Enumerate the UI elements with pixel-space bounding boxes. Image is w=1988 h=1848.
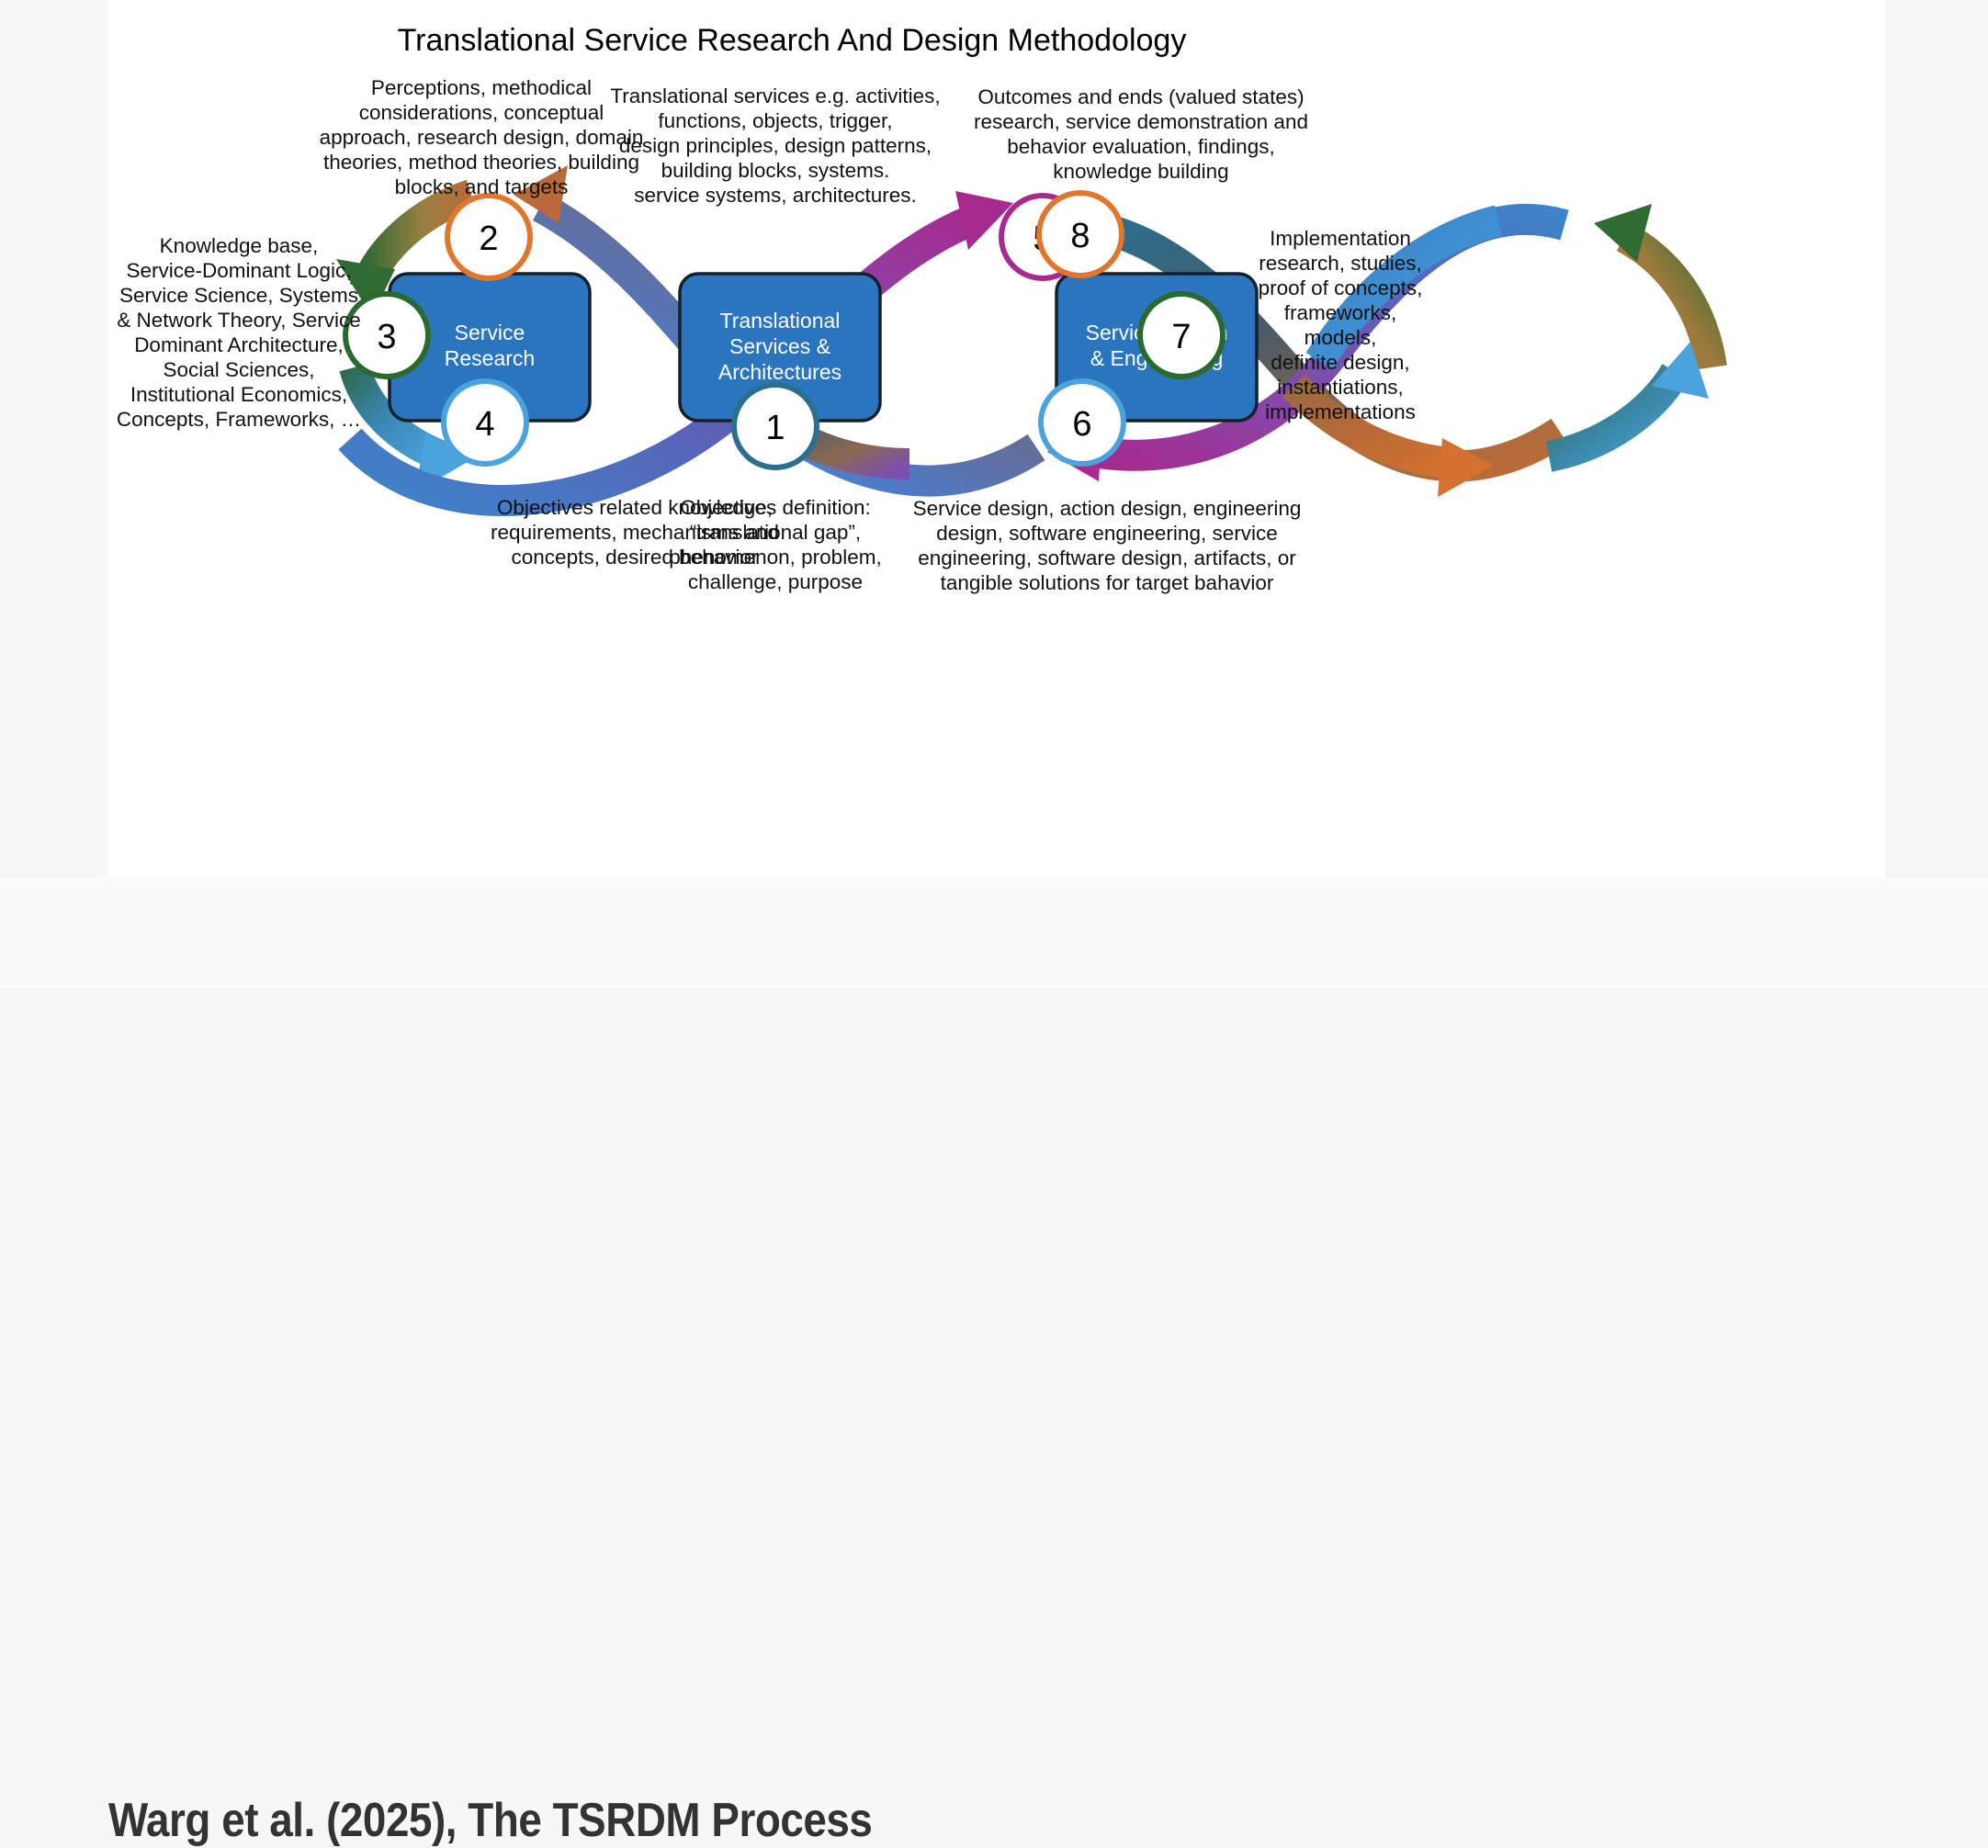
annotation-knowledge-base: Knowledge base, Service-Dominant Logic, … — [117, 234, 361, 431]
module-label-line: Architectures — [718, 360, 842, 384]
annotation-line: considerations, conceptual — [359, 101, 604, 124]
node-6[interactable]: 6 — [1041, 381, 1124, 464]
node-number-4: 4 — [475, 405, 494, 444]
diagram-title: Translational Service Research And Desig… — [398, 23, 1187, 58]
annotation-line: approach, research design, domain — [320, 126, 644, 149]
annotation-perceptions-methodical: Perceptions, methodical considerations, … — [320, 76, 644, 198]
annotation-line: frameworks, — [1284, 301, 1397, 324]
annotation-line: Service-Dominant Logic, — [126, 259, 351, 282]
tsrdm-process-diagram: Translational Service Research And Desig… — [108, 0, 1885, 878]
annotation-line: Knowledge base, — [160, 234, 319, 257]
annotation-line: Objectives definition: — [680, 496, 871, 519]
annotation-line: service systems, architectures. — [634, 184, 917, 207]
annotation-line: research, studies, — [1259, 252, 1422, 275]
annotation-line: challenge, purpose — [688, 570, 863, 593]
node-2[interactable]: 2 — [447, 196, 530, 278]
annotation-line: research, service demonstration and — [974, 110, 1308, 133]
annotation-line: knowledge building — [1053, 160, 1228, 183]
annotation-line: design principles, design patterns, — [619, 134, 932, 157]
annotation-line: models, — [1305, 326, 1377, 349]
node-number-6: 6 — [1072, 405, 1091, 444]
node-number-3: 3 — [377, 318, 396, 356]
annotation-line: Service Science, Systems — [119, 284, 358, 307]
annotation-line: Social Sciences, — [163, 358, 314, 381]
annotation-line: Institutional Economics, — [130, 383, 347, 406]
annotation-translational-services: Translational services e.g. activities, … — [610, 85, 940, 207]
figure-panel: Translational Service Research And Desig… — [108, 0, 1885, 878]
annotation-line: definite design, — [1271, 351, 1409, 374]
annotation-line: Perceptions, methodical — [371, 76, 592, 99]
figure-caption: Warg et al. (2025), The TSRDM Process — [108, 1793, 1483, 1848]
annotation-line: Translational services e.g. activities, — [610, 85, 940, 107]
annotation-objectives-definition: Objectives definition: “translational ga… — [669, 496, 881, 593]
node-number-7: 7 — [1171, 318, 1191, 356]
annotation-line: tangible solutions for target bahavior — [941, 571, 1274, 594]
node-4[interactable]: 4 — [444, 381, 526, 464]
annotation-line: “translational gap”, — [690, 521, 861, 544]
annotation-line: phenomenon, problem, — [669, 546, 881, 569]
annotation-line: Service design, action design, engineeri… — [913, 497, 1302, 520]
annotation-line: building blocks, systems. — [661, 159, 890, 182]
annotation-line: Outcomes and ends (valued states) — [977, 85, 1304, 108]
node-8[interactable]: 8 — [1039, 193, 1122, 276]
arrow-7-to-8 — [1594, 204, 1711, 367]
module-label-line: Service — [455, 321, 525, 344]
annotation-line: blocks, and targets — [395, 175, 569, 198]
annotation-line: theories, method theories, building — [323, 151, 639, 174]
arrow-6-to-7 — [1549, 342, 1709, 456]
annotation-line: behavior evaluation, findings, — [1007, 135, 1274, 158]
annotation-line: proof of concepts, — [1259, 276, 1423, 299]
caption-band: Warg et al. (2025), The TSRDM Process — [0, 878, 1988, 988]
node-number-8: 8 — [1070, 217, 1090, 255]
module-label-line: Translational — [720, 309, 841, 332]
annotation-line: & Network Theory, Service — [117, 309, 361, 332]
annotation-service-design-actions: Service design, action design, engineeri… — [913, 497, 1302, 594]
slide-root: Translational Service Research And Desig… — [0, 0, 1988, 988]
annotation-line: implementations — [1265, 400, 1416, 423]
annotation-line: engineering, software design, artifacts,… — [918, 547, 1296, 569]
annotation-line: Dominant Architecture, — [134, 333, 344, 356]
annotation-line: design, software engineering, service — [936, 522, 1277, 545]
annotation-line: functions, objects, trigger, — [658, 109, 892, 132]
annotation-line: instantiations, — [1277, 376, 1404, 399]
module-label-line: Research — [445, 346, 535, 370]
node-7[interactable]: 7 — [1140, 294, 1223, 377]
node-number-2: 2 — [479, 220, 498, 258]
annotation-line: Concepts, Frameworks, … — [117, 408, 361, 431]
module-label-line: Services & — [729, 334, 830, 358]
annotation-outcomes-and-ends: Outcomes and ends (valued states) resear… — [974, 85, 1308, 183]
node-1[interactable]: 1 — [734, 385, 817, 468]
annotation-line: Implementation — [1270, 227, 1411, 250]
node-number-1: 1 — [765, 409, 785, 447]
